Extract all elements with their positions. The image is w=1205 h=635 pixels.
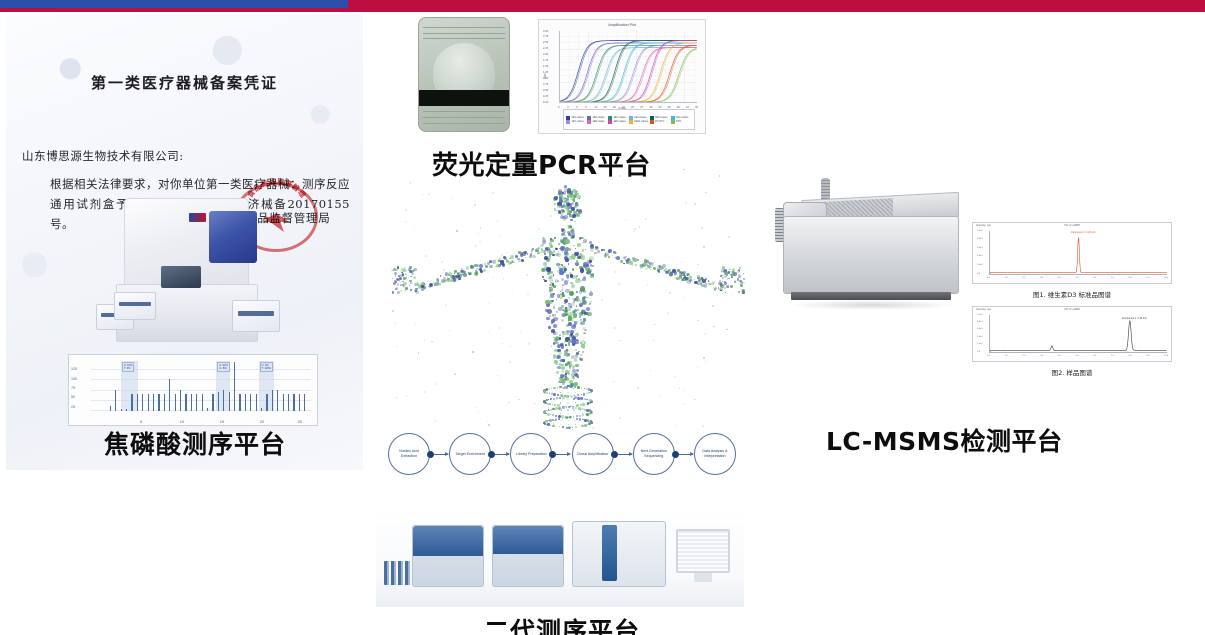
particle-dot: [573, 388, 574, 389]
legend-label: 1E7 copies: [572, 120, 584, 123]
particle-dot: [477, 233, 479, 235]
particle-dot: [575, 402, 576, 403]
particle-dot: [570, 234, 573, 237]
particle-dot: [586, 413, 589, 416]
axis-tick-label: 0.0: [987, 355, 990, 357]
particle-dot: [555, 342, 556, 343]
particle-dot: [577, 243, 581, 247]
particle-dot: [445, 304, 447, 306]
particle-dot: [580, 409, 581, 410]
workflow-step-4[interactable]: Clonal Amplification: [572, 433, 614, 475]
particle-dot: [702, 425, 703, 426]
particle-dot: [580, 280, 582, 282]
axis-tick-label: 6.0e4: [977, 328, 982, 330]
particle-dot: [569, 291, 574, 296]
particle-dot: [424, 391, 426, 393]
particle-dot: [439, 258, 440, 259]
particle-dot: [683, 169, 684, 170]
particle-dot: [530, 223, 532, 225]
particle-dot: [526, 274, 528, 276]
particle-dot: [613, 251, 616, 254]
axis-tick-label: 10.0: [1164, 355, 1168, 357]
particle-dot: [488, 331, 489, 332]
particle-dot: [674, 376, 676, 378]
legend-item: 1E9 copies: [608, 120, 629, 124]
particle-dot: [687, 274, 688, 275]
particle-dot: [549, 393, 550, 394]
particle-dot: [558, 243, 560, 245]
pyrogram-peak: [169, 379, 170, 411]
particle-dot: [415, 290, 417, 292]
particle-dot: [687, 281, 690, 284]
particle-dot: [577, 394, 579, 396]
particle-dot: [478, 411, 479, 412]
particle-dot: [556, 426, 557, 427]
particle-dot: [575, 248, 577, 250]
chromatogram-standard: Intensity, cps XIC of +MRM Component 1, …: [972, 222, 1172, 284]
particle-dot: [392, 310, 393, 311]
particle-dot: [633, 231, 635, 233]
particle-dot: [417, 407, 418, 408]
particle-dot: [554, 237, 556, 239]
particle-dot: [576, 415, 578, 417]
particle-dot: [583, 296, 585, 298]
particle-dot: [528, 342, 530, 344]
pyrogram-peak: [266, 394, 267, 411]
particle-dot: [503, 278, 504, 279]
particle-dot: [580, 404, 582, 406]
axis-tick-label: 10: [180, 419, 184, 424]
axis-tick-label: 1.25: [543, 71, 548, 74]
lcms-instrument-image: [775, 178, 965, 318]
workflow-connector: [615, 451, 632, 458]
particle-dot: [592, 265, 594, 267]
particle-dot: [500, 380, 502, 382]
particle-dot: [547, 309, 552, 314]
axis-tick-label: 5.0: [1076, 277, 1079, 279]
particle-dot: [405, 273, 407, 275]
particle-dot: [583, 337, 584, 338]
particle-dot: [573, 245, 575, 247]
particle-dot: [590, 291, 591, 292]
workflow-connector-dot: [672, 451, 679, 458]
particle-dot: [562, 216, 565, 219]
legend-item: 1E7 copies: [566, 120, 587, 124]
amplification-curve: [560, 43, 696, 102]
particle-dot: [396, 346, 397, 347]
particle-dot: [565, 349, 569, 353]
particle-dot: [567, 392, 568, 393]
particle-dot: [670, 273, 672, 275]
particle-dot: [573, 226, 574, 227]
workflow-step-5[interactable]: Next-Generation Sequencing: [633, 433, 675, 475]
particle-dot: [462, 271, 466, 275]
axis-tick-label: 1.0: [1005, 277, 1008, 279]
particle-dot: [623, 256, 624, 257]
particle-dot: [469, 349, 470, 350]
amplification-curve: [561, 45, 697, 102]
axis-tick-label: 6.0e4: [977, 247, 982, 249]
amplification-curve: [561, 48, 697, 102]
particle-dot: [575, 364, 579, 368]
particle-dot: [581, 321, 585, 325]
axis-tick-label: 5.0: [1076, 355, 1079, 357]
particle-dot: [400, 284, 402, 286]
particle-dot: [559, 334, 561, 336]
particle-dot: [728, 236, 730, 238]
axis-tick-label: 25: [71, 405, 75, 409]
particle-dot: [724, 287, 726, 289]
accent-bar-blue: [0, 0, 348, 8]
reagent-kit-box: [114, 292, 156, 320]
particle-dot: [614, 327, 616, 329]
particle-dot: [509, 346, 511, 348]
particle-dot: [562, 399, 563, 400]
particle-dot: [552, 414, 554, 416]
particle-dot: [553, 393, 556, 396]
workflow-connector-dot: [488, 451, 495, 458]
particle-dot: [581, 425, 583, 427]
particle-dot: [393, 282, 396, 285]
particle-dot: [558, 351, 562, 355]
particle-dot: [564, 280, 568, 284]
axis-tick-label: 2.0e4: [977, 343, 982, 345]
particle-dot: [582, 249, 585, 252]
particle-dot: [549, 419, 552, 422]
pyrogram-peak: [218, 392, 219, 411]
particle-dot: [584, 424, 587, 427]
peak-annotation: Component 1, 5.24 min: [1071, 231, 1096, 234]
axis-tick-label: 15: [220, 419, 224, 424]
amplification-curve: [560, 45, 696, 102]
certificate-addressee: 山东博思源生物技术有限公司:: [22, 148, 184, 164]
particle-dot: [406, 395, 407, 396]
workflow-step-1[interactable]: Nucleic Acid Extraction: [388, 433, 430, 475]
pyrogram-chart: A: 97%T: 3%A: 92%G: 8%C: 0%T: 100%510152…: [68, 354, 318, 426]
particle-dot: [709, 281, 710, 282]
amplification-curve: [561, 45, 697, 102]
particle-dot: [540, 251, 542, 253]
amplification-curve: [561, 48, 697, 102]
particle-dot: [562, 331, 564, 333]
particle-dot: [637, 259, 639, 261]
particle-dot: [550, 239, 553, 242]
particle-dot: [742, 291, 745, 294]
particle-dot: [572, 365, 576, 369]
particle-dot: [410, 182, 412, 184]
particle-dot: [560, 392, 561, 393]
particle-dot: [573, 417, 575, 419]
particle-dot: [548, 321, 550, 323]
pyrogram-peak: [261, 408, 262, 411]
particle-dot: [703, 246, 705, 248]
chart-legend: 1E1 copies1E2 copies1E3 copies1E4 copies…: [563, 109, 695, 130]
unit-top-panel: [413, 526, 483, 556]
particle-dot: [564, 268, 567, 271]
particle-dot: [664, 269, 667, 272]
particle-dot: [515, 177, 517, 179]
axis-tick-label: 0.75: [543, 83, 548, 86]
axis-tick-label: 5: [140, 419, 142, 424]
particle-dot: [410, 289, 412, 291]
particle-dot: [527, 253, 529, 255]
particle-dot: [637, 387, 639, 389]
particle-dot: [403, 285, 405, 287]
seal-char: 品: [268, 177, 276, 188]
particle-dot: [569, 213, 571, 215]
pyrosequencer-instrument-image: [66, 192, 301, 357]
particle-dot: [561, 395, 563, 397]
particle-dot: [683, 403, 685, 405]
particle-dot: [573, 313, 577, 317]
particle-dot: [567, 409, 568, 410]
particle-dot: [573, 211, 576, 214]
particle-dot: [573, 406, 574, 407]
particle-dot: [558, 189, 562, 193]
particle-dot: [568, 395, 569, 396]
particle-dot: [423, 194, 424, 195]
particle-dot: [475, 245, 477, 247]
particle-dot: [553, 293, 555, 295]
axis-tick-label: 3.0: [1040, 277, 1043, 279]
particle-dot: [427, 281, 428, 282]
particle-dot: [681, 272, 685, 276]
axis-tick-label: 4.0e4: [977, 255, 982, 257]
particle-dot: [543, 262, 547, 266]
particle-dot: [396, 289, 397, 290]
axis-tick-label: 0.00: [543, 101, 548, 104]
particle-dot: [560, 402, 562, 404]
sequencer-unit: [492, 525, 564, 587]
particle-dot: [521, 259, 524, 262]
axis-tick-label: 75: [71, 386, 75, 390]
particle-dot: [704, 284, 708, 288]
particle-dot: [449, 330, 450, 331]
particle-dot: [581, 237, 583, 239]
particle-dot: [527, 294, 529, 296]
platform-title-pyrosequencing: 焦磷酸测序平台: [104, 425, 286, 461]
particle-dot: [565, 258, 569, 262]
chart-plot-area: 3.002.752.502.252.001.751.501.251.000.75…: [559, 31, 697, 103]
pyrogram-peak: [142, 394, 143, 411]
particle-dot: [571, 324, 572, 325]
accent-bar-red: [348, 0, 1205, 8]
particle-dot: [679, 388, 680, 389]
particle-dot: [577, 309, 579, 311]
particle-dot: [422, 382, 423, 383]
pyrogram-peak: [158, 394, 159, 411]
axis-tick-label: 50: [71, 395, 75, 399]
particle-dot: [659, 272, 660, 273]
particle-dot: [590, 413, 591, 414]
particle-dot: [421, 285, 424, 288]
particle-dot: [697, 264, 698, 265]
particle-dot: [566, 330, 570, 334]
particle-dot: [583, 348, 585, 350]
particle-dot: [490, 262, 491, 263]
particle-dot: [704, 333, 706, 335]
particle-dot: [392, 291, 395, 294]
vent-grille: [423, 38, 506, 41]
particle-dot: [560, 413, 561, 414]
particle-dot: [712, 305, 714, 307]
particle-dot: [434, 420, 436, 422]
workflow-connector: [676, 451, 693, 458]
axis-tick-label: 4.0e4: [977, 336, 982, 338]
pyrogram-allele-tag: A: 92%G: 8%: [217, 362, 229, 372]
particle-dot: [410, 276, 412, 278]
legend-item: 1E8 copies: [587, 120, 608, 124]
particle-dot: [553, 413, 554, 414]
particle-dot: [712, 281, 715, 284]
particle-dot: [579, 426, 581, 428]
particle-dot: [719, 175, 721, 177]
particle-dot: [571, 284, 575, 288]
particle-dot: [517, 411, 518, 412]
axis-tick-label: 2.00: [543, 53, 548, 56]
axis-tick-label: 4.0: [1058, 355, 1061, 357]
particle-dot: [397, 283, 400, 286]
particle-dot: [454, 273, 455, 274]
particle-dot: [549, 284, 551, 286]
particle-dot: [561, 314, 563, 316]
particle-dot: [429, 283, 433, 287]
particle-dot: [561, 278, 564, 281]
axis-tick-label: 1.0e5: [977, 314, 982, 316]
axis-tick-label: 0.50: [543, 89, 548, 92]
axis-tick-label: 9.0: [1146, 277, 1149, 279]
particle-dot: [555, 302, 556, 303]
particle-dot: [505, 229, 506, 230]
axis-tick-label: 20: [260, 419, 264, 424]
particle-dot: [557, 280, 559, 282]
particle-dot: [613, 381, 615, 383]
legend-swatch: [650, 120, 654, 124]
particle-dot: [562, 335, 564, 337]
particle-dot: [414, 324, 416, 326]
particle-dot: [566, 324, 569, 327]
legend-swatch: [671, 120, 675, 124]
particle-dot: [705, 192, 707, 194]
workflow-connector-dot: [427, 451, 434, 458]
pyrogram-peak: [153, 394, 154, 411]
axis-tick-label: 8.0: [1129, 277, 1132, 279]
particle-dot: [730, 345, 732, 347]
particle-dot: [410, 270, 411, 271]
particle-dot: [469, 273, 471, 275]
particle-dot: [696, 221, 697, 222]
particle-dot: [395, 275, 397, 277]
particle-dot: [565, 200, 567, 202]
workflow-step-2[interactable]: Target Enrichment: [449, 433, 491, 475]
particle-dot: [561, 366, 565, 370]
particle-dot: [491, 265, 494, 268]
particle-dot: [405, 221, 407, 223]
particle-dot: [540, 244, 543, 247]
particle-dot: [544, 280, 546, 282]
particle-dot: [572, 214, 576, 218]
particle-dot: [574, 177, 575, 178]
axis-tick-label: 2.0: [1022, 355, 1025, 357]
axis-tick-label: 7.0: [1111, 277, 1114, 279]
particle-dot: [582, 424, 583, 425]
axis-tick-label: 3.00: [543, 30, 548, 33]
particle-dot: [582, 242, 583, 243]
axis-tick-label: 0.0: [987, 277, 990, 279]
particle-dot: [579, 290, 582, 293]
particle-dot: [424, 339, 425, 340]
particle-dot: [619, 175, 621, 177]
workflow-step-6[interactable]: Data Analysis & Interpretation: [694, 433, 736, 475]
particle-dot: [537, 339, 538, 340]
particle-dot: [625, 219, 626, 220]
axis-tick-label: 125: [71, 367, 77, 371]
particle-dot: [568, 275, 570, 277]
axis-tick-label: 1.0: [1005, 355, 1008, 357]
particle-dot: [558, 193, 560, 195]
particle-dot: [540, 358, 541, 359]
axis-tick-label: 2.25: [543, 47, 548, 50]
reagent-kit-box: [232, 300, 280, 332]
particle-dot: [529, 255, 532, 258]
particle-dot: [738, 269, 740, 271]
instrument-logo: [189, 213, 206, 222]
pyrogram-peak: [115, 390, 116, 411]
particle-dot: [606, 253, 609, 256]
particle-dot: [506, 260, 509, 263]
particle-dot: [480, 227, 482, 229]
particle-dot: [586, 297, 588, 299]
particle-dot: [641, 271, 642, 272]
particle-dot: [557, 394, 559, 396]
particle-dot: [572, 324, 576, 328]
particle-dot: [553, 274, 555, 276]
particle-dot: [608, 256, 610, 258]
workflow-step-3[interactable]: Library Preparation: [510, 433, 552, 475]
legend-label: PC NTC: [655, 120, 664, 123]
pyrogram-peak: [207, 408, 208, 411]
legend-swatch: [608, 120, 612, 124]
particle-dot: [651, 264, 653, 266]
pyrogram-allele-tag: A: 97%T: 3%: [122, 362, 134, 372]
particle-dot: [431, 306, 433, 308]
particle-dot: [575, 413, 576, 414]
particle-dot: [582, 302, 585, 305]
particle-dot: [479, 241, 481, 243]
workflow-connector-dot: [549, 451, 556, 458]
particle-dot: [571, 319, 574, 322]
particle-dot: [652, 189, 653, 190]
particle-dot: [447, 278, 450, 281]
particle-dot: [425, 255, 427, 257]
particle-dot: [618, 283, 619, 284]
particle-dot: [397, 279, 398, 280]
instrument-dark-band: [419, 90, 509, 106]
monitor-stand: [694, 573, 712, 582]
particle-dot: [554, 304, 555, 305]
pyrogram-peak: [256, 394, 257, 411]
workflow-connector: [492, 451, 509, 458]
particle-dot: [560, 359, 563, 362]
particle-dot: [575, 349, 578, 352]
vent-grille: [423, 123, 506, 126]
particle-dot: [627, 250, 628, 251]
particle-dot: [396, 397, 398, 399]
particle-dot: [537, 252, 539, 254]
particle-dot: [574, 386, 576, 388]
instrument-shadow: [789, 300, 955, 310]
particle-dot: [581, 310, 585, 314]
